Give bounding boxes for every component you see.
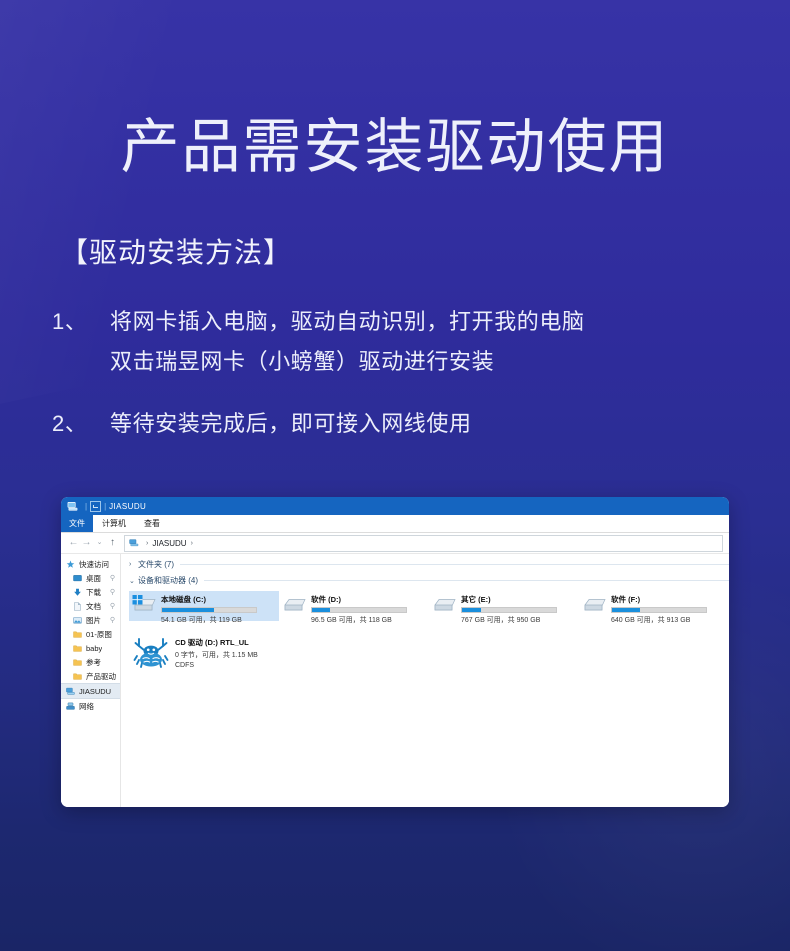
capacity-meter (161, 607, 257, 613)
sidebar-item-folder-cankao[interactable]: 参考 (61, 655, 120, 669)
this-pc-icon (67, 501, 78, 512)
drive-info: 软件 (D:) 96.5 GB 可用，共 118 GB (311, 593, 427, 625)
sidebar-item-jiasudu[interactable]: JIASUDU (61, 683, 120, 699)
windows-drive-icon (131, 593, 157, 615)
chevron-down-icon[interactable]: ⌄ (129, 577, 138, 585)
forward-button[interactable]: → (80, 538, 93, 548)
ribbon-tab-bar: 文件 计算机 查看 (61, 515, 729, 533)
breadcrumb-jiasudu[interactable]: JIASUDU (152, 539, 186, 548)
cd-drive-label: CD 驱动 (D:) RTL_UL (175, 637, 258, 648)
group-divider (180, 564, 729, 565)
sidebar-item-label: 图片 (86, 615, 101, 626)
drive-info: 本地磁盘 (C:) 54.1 GB 可用，共 119 GB (161, 593, 277, 625)
instruction-steps: 1、 将网卡插入电脑，驱动自动识别，打开我的电脑 双击瑞昱网卡（小螃蟹）驱动进行… (52, 302, 752, 466)
group-divider (204, 580, 729, 581)
drive-label: 软件 (D:) (311, 594, 427, 605)
pin-icon[interactable]: ⚲ (110, 602, 115, 610)
sidebar-item-desktop[interactable]: 桌面 ⚲ (61, 571, 120, 585)
back-button[interactable]: ← (67, 538, 80, 548)
step-line: 双击瑞昱网卡（小螃蟹）驱动进行安装 (110, 342, 752, 382)
file-list-pane[interactable]: › 文件夹 (7) ⌄ 设备和驱动器 (4) (121, 554, 729, 807)
drive-label: 其它 (E:) (461, 594, 577, 605)
poster-page: 产品需安装驱动使用 【驱动安装方法】 1、 将网卡插入电脑，驱动自动识别，打开我… (0, 0, 790, 951)
tab-view[interactable]: 查看 (135, 515, 169, 532)
group-header-devices[interactable]: ⌄ 设备和驱动器 (4) (129, 574, 729, 587)
capacity-meter (611, 607, 707, 613)
sidebar-item-label: 文档 (86, 601, 101, 612)
titlebar-divider: | (85, 502, 87, 511)
drive-item-e[interactable]: 其它 (E:) 767 GB 可用，共 950 GB (429, 591, 579, 621)
capacity-meter (461, 607, 557, 613)
window-title-bar: | | JIASUDU (61, 497, 729, 515)
pin-icon[interactable]: ⚲ (110, 574, 115, 582)
star-icon (66, 560, 75, 569)
chevron-right-icon[interactable]: › (191, 540, 193, 547)
sidebar-item-label: 桌面 (86, 573, 101, 584)
drive-list: 本地磁盘 (C:) 54.1 GB 可用，共 119 GB (129, 591, 729, 621)
up-button[interactable]: ↑ (106, 538, 119, 548)
sidebar-item-documents[interactable]: 文档 ⚲ (61, 599, 120, 613)
pin-icon[interactable]: ⚲ (110, 616, 115, 624)
sidebar-item-folder-01-yuantu[interactable]: 01-原图 (61, 627, 120, 641)
group-header-folders[interactable]: › 文件夹 (7) (129, 558, 729, 571)
sidebar-item-folder-chanpinqudong[interactable]: 产品驱动 (61, 669, 120, 683)
sidebar-item-pictures[interactable]: 图片 ⚲ (61, 613, 120, 627)
navigation-pane: 快速访问 桌面 ⚲ 下载 ⚲ (61, 554, 121, 807)
drive-capacity-text: 640 GB 可用，共 913 GB (611, 615, 727, 625)
chevron-right-icon: › (146, 540, 148, 547)
document-icon (73, 602, 82, 611)
cd-drive-capacity-text: 0 字节，可用，共 1.15 MB (175, 651, 258, 661)
drive-item-f[interactable]: 软件 (F:) 640 GB 可用，共 913 GB (579, 591, 729, 621)
sidebar-item-network[interactable]: 网络 (61, 699, 120, 713)
drive-label: 软件 (F:) (611, 594, 727, 605)
step-line: 将网卡插入电脑，驱动自动识别，打开我的电脑 (110, 302, 752, 342)
sidebar-item-label: 快速访问 (79, 559, 109, 570)
cd-drive-item[interactable]: CD 驱动 (D:) RTL_UL 0 字节，可用，共 1.15 MB CDFS (129, 635, 729, 671)
sidebar-item-folder-baby[interactable]: baby (61, 641, 120, 655)
this-pc-icon (129, 539, 139, 547)
drive-label: 本地磁盘 (C:) (161, 594, 277, 605)
sidebar-item-label: 网络 (79, 701, 94, 712)
quick-access-toolbar-icon[interactable] (90, 501, 101, 512)
pictures-icon (73, 616, 82, 625)
folder-icon (73, 630, 82, 639)
this-pc-icon (66, 687, 75, 696)
address-field[interactable]: › JIASUDU › (124, 535, 723, 552)
page-title: 产品需安装驱动使用 (0, 112, 790, 182)
instruction-step: 1、 将网卡插入电脑，驱动自动识别，打开我的电脑 双击瑞昱网卡（小螃蟹）驱动进行… (52, 302, 752, 382)
drive-info: 软件 (F:) 640 GB 可用，共 913 GB (611, 593, 727, 625)
sidebar-item-label: JIASUDU (79, 687, 111, 696)
folder-icon (73, 672, 82, 681)
folder-icon (73, 644, 82, 653)
drive-capacity-text: 767 GB 可用，共 950 GB (461, 615, 577, 625)
desktop-icon (73, 574, 82, 583)
sidebar-item-label: baby (86, 644, 102, 653)
tab-file[interactable]: 文件 (61, 515, 93, 532)
hard-drive-icon (281, 593, 307, 615)
hard-drive-icon (431, 593, 457, 615)
sidebar-item-label: 下载 (86, 587, 101, 598)
section-subheading: 【驱动安装方法】 (60, 235, 292, 271)
sidebar-item-label: 参考 (86, 657, 101, 668)
realtek-crab-icon (133, 635, 169, 669)
drive-capacity-text: 96.5 GB 可用，共 118 GB (311, 615, 427, 625)
sidebar-item-label: 产品驱动 (86, 671, 116, 682)
capacity-meter (311, 607, 407, 613)
file-explorer-window[interactable]: | | JIASUDU 文件 计算机 查看 ← → ⌄ ↑ (61, 497, 729, 807)
cd-drive-info: CD 驱动 (D:) RTL_UL 0 字节，可用，共 1.15 MB CDFS (175, 635, 258, 671)
sidebar-item-quick-access[interactable]: 快速访问 (61, 557, 120, 571)
pin-icon[interactable]: ⚲ (110, 588, 115, 596)
step-line: 等待安装完成后，即可接入网线使用 (110, 404, 752, 444)
drive-capacity-text: 54.1 GB 可用，共 119 GB (161, 615, 277, 625)
network-icon (66, 702, 75, 711)
recent-locations-button[interactable]: ⌄ (93, 538, 106, 548)
folder-icon (73, 658, 82, 667)
drive-item-c[interactable]: 本地磁盘 (C:) 54.1 GB 可用，共 119 GB (129, 591, 279, 621)
drive-info: 其它 (E:) 767 GB 可用，共 950 GB (461, 593, 577, 625)
group-title: 设备和驱动器 (4) (138, 575, 198, 586)
titlebar-divider: | (104, 502, 106, 511)
group-title: 文件夹 (7) (138, 559, 174, 570)
sidebar-item-label: 01-原图 (86, 629, 112, 640)
instruction-step: 2、 等待安装完成后，即可接入网线使用 (52, 404, 752, 444)
drive-item-d[interactable]: 软件 (D:) 96.5 GB 可用，共 118 GB (279, 591, 429, 621)
step-number: 2、 (52, 404, 110, 444)
step-text: 将网卡插入电脑，驱动自动识别，打开我的电脑 双击瑞昱网卡（小螃蟹）驱动进行安装 (110, 302, 752, 382)
step-text: 等待安装完成后，即可接入网线使用 (110, 404, 752, 444)
chevron-right-icon[interactable]: › (129, 561, 138, 568)
address-bar: ← → ⌄ ↑ › JIASUDU › (61, 533, 729, 554)
explorer-body: 快速访问 桌面 ⚲ 下载 ⚲ (61, 554, 729, 807)
tab-computer[interactable]: 计算机 (93, 515, 135, 532)
window-title: JIASUDU (109, 502, 146, 511)
hard-drive-icon (581, 593, 607, 615)
cd-drive-filesystem: CDFS (175, 661, 258, 671)
download-icon (73, 588, 82, 597)
step-number: 1、 (52, 302, 110, 342)
sidebar-item-downloads[interactable]: 下载 ⚲ (61, 585, 120, 599)
